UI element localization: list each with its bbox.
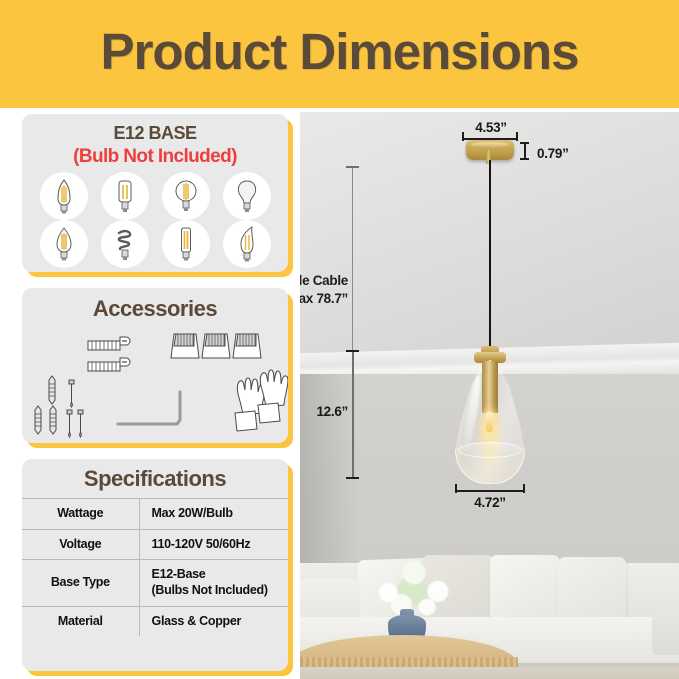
wire-nut-icon — [171, 334, 199, 358]
spec-value-wattage: Max 20W/Bulb — [139, 499, 288, 530]
dimension-tick — [516, 132, 518, 141]
floor — [300, 667, 679, 679]
ottoman — [652, 589, 679, 655]
wood-screw-icon — [67, 410, 72, 437]
wall-anchor-icon — [35, 406, 41, 434]
wood-screw-icon — [69, 380, 74, 407]
dimension-tick — [455, 484, 457, 493]
throw-pillow — [490, 555, 560, 625]
bulb-cell — [216, 220, 277, 268]
frosted-globe-bulb-icon — [223, 172, 271, 220]
accessories-title: Accessories — [22, 296, 288, 322]
accessories-illustration — [22, 324, 288, 442]
tubular-bulb-icon — [162, 220, 210, 268]
dimension-tick — [346, 477, 359, 479]
machine-screw-icon — [88, 337, 130, 350]
header-banner: Product Dimensions — [0, 0, 679, 108]
wood-screw-icon — [78, 410, 83, 437]
bulb-cell — [33, 220, 94, 268]
dimension-canopy-height-label: 0.79” — [537, 146, 569, 161]
dimension-canopy-height-line — [524, 143, 526, 159]
specifications-table: Wattage Max 20W/Bulb Voltage 110-120V 50… — [22, 498, 288, 636]
specifications-title: Specifications — [22, 466, 288, 492]
living-room-scene — [300, 517, 679, 679]
spec-value-base-type: E12-Base (Bulbs Not Included) — [139, 560, 288, 606]
wire-nut-icon — [233, 334, 261, 358]
table-row: Base Type E12-Base (Bulbs Not Included) — [22, 560, 288, 606]
dimension-tick — [346, 350, 359, 352]
dimension-tick — [346, 166, 359, 168]
specifications-panel: Specifications Wattage Max 20W/Bulb Volt… — [22, 459, 288, 671]
canopy-ring — [471, 142, 509, 147]
candle-bulb-icon — [40, 172, 88, 220]
dimension-tick — [520, 142, 529, 144]
dimension-shade-height-label: 12.6” — [306, 404, 348, 419]
dimension-cable-label: Adjustable Cable Max 78.7” — [300, 272, 348, 308]
bulb-cell — [155, 172, 216, 220]
spec-key-voltage: Voltage — [22, 529, 139, 560]
left-column: E12 BASE (Bulb Not Included) — [14, 112, 296, 672]
page-title: Product Dimensions — [0, 0, 679, 108]
dimension-cable-line2: Max 78.7” — [300, 290, 348, 308]
bulb-cell — [33, 172, 94, 220]
machine-screw-icon — [88, 358, 130, 371]
dimension-canopy-width-label: 4.53” — [460, 120, 522, 135]
hanging-cable — [489, 160, 492, 359]
spec-key-base-type: Base Type — [22, 560, 139, 606]
flame-tip-bulb-icon — [223, 220, 271, 268]
gloves-icon — [235, 370, 288, 431]
bulb-cell — [216, 172, 277, 220]
spec-key-material: Material — [22, 606, 139, 636]
globe-filament-bulb-icon — [162, 172, 210, 220]
spec-key-wattage: Wattage — [22, 499, 139, 530]
bulb-cell — [94, 220, 155, 268]
edison-st-bulb-icon — [40, 220, 88, 268]
dimension-canopy-width-line — [462, 138, 518, 140]
tube-bulb-icon — [101, 172, 149, 220]
bulb-cell — [155, 220, 216, 268]
shade-rim — [458, 442, 522, 458]
table-row: Voltage 110-120V 50/60Hz — [22, 529, 288, 560]
e12-base-panel: E12 BASE (Bulb Not Included) — [22, 114, 288, 272]
dimension-shade-width-label: 4.72” — [459, 495, 521, 510]
dimension-tick — [520, 158, 529, 160]
bulb-cell — [94, 172, 155, 220]
dimension-tick — [462, 132, 464, 141]
table-row: Wattage Max 20W/Bulb — [22, 499, 288, 530]
spec-value-material: Glass & Copper — [139, 606, 288, 636]
spiral-cfl-bulb-icon — [101, 220, 149, 268]
wall-anchor-icon — [49, 376, 55, 404]
dimension-shade-height-line — [352, 350, 354, 478]
table-row: Material Glass & Copper — [22, 606, 288, 636]
bulb-filament — [486, 412, 493, 432]
product-photo-pane: 4.53” 0.79” Adjustable Cable Max 78.7” 1… — [300, 112, 679, 679]
wall-anchor-icon — [50, 406, 56, 434]
e12-base-title: E12 BASE — [22, 123, 288, 144]
hex-key-icon — [118, 392, 180, 424]
bulb-not-included-note: (Bulb Not Included) — [22, 146, 288, 168]
dimension-tick — [523, 484, 525, 493]
dimension-cable-line1: Adjustable Cable — [300, 273, 348, 288]
dimension-shade-width-line — [455, 490, 525, 492]
accessories-panel: Accessories — [22, 288, 288, 443]
bulb-type-grid — [33, 172, 277, 268]
spec-value-voltage: 110-120V 50/60Hz — [139, 529, 288, 560]
wire-nut-icon — [202, 334, 230, 358]
socket-body — [482, 361, 498, 413]
